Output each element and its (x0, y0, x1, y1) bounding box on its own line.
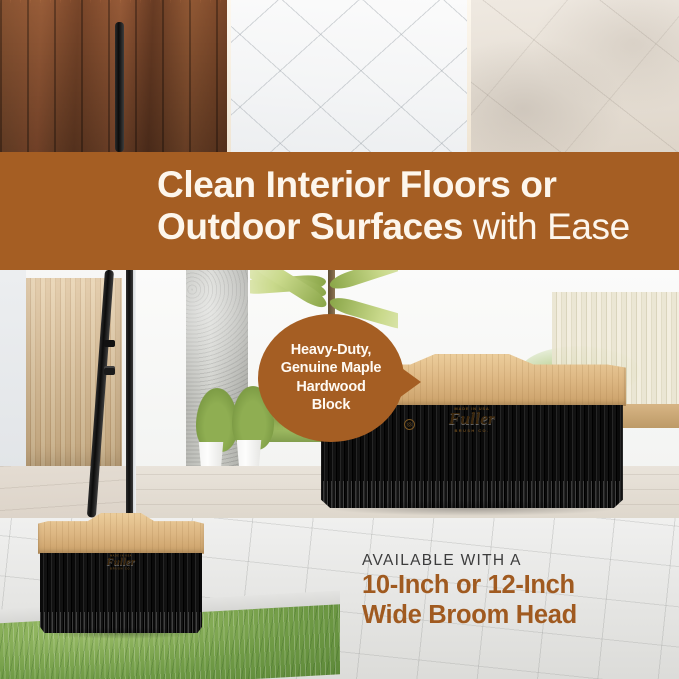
marble-floor-panel (471, 0, 679, 155)
headline: Clean Interior Floors or Outdoor Surface… (157, 166, 677, 246)
company-name-text: BRUSH CO. (70, 567, 173, 570)
badge-text: Heavy-Duty, Genuine Maple Hardwood Block (258, 314, 404, 442)
broom-handle-upper (115, 22, 124, 152)
broom-head-full: MADE IN USA Fuller BRUSH CO. (38, 513, 204, 633)
bristle-shadow (41, 627, 200, 639)
size-line-1: 10-Inch or 12-Inch (362, 570, 577, 600)
handle-ferrule (104, 340, 115, 347)
badge-line: Genuine Maple (281, 360, 382, 377)
badge-line: Hardwood (296, 379, 365, 396)
availability-eyebrow: AVAILABLE WITH A (362, 552, 577, 570)
handle-clip (104, 366, 115, 375)
headline-line-2-light: with Ease (473, 206, 630, 247)
badge-line: Heavy-Duty, (291, 342, 372, 359)
white-tile-floor-panel (231, 0, 467, 155)
floor-types-strip (0, 0, 679, 155)
hardwood-floor-panel (0, 0, 227, 155)
fuller-logo: MADE IN USA Fuller BRUSH CO. (70, 554, 173, 570)
maple-hardwood-block (38, 513, 204, 554)
headline-line-2-strong: Outdoor Surfaces (157, 206, 463, 247)
size-availability-copy: AVAILABLE WITH A 10-Inch or 12-Inch Wide… (362, 552, 577, 630)
interior-wall (0, 270, 26, 470)
headline-line-1: Clean Interior Floors or (157, 166, 677, 204)
badge-line: Block (312, 397, 351, 414)
headline-line-2: Outdoor Surfaces with Ease (157, 208, 677, 246)
brand-name-text: Fuller (70, 557, 173, 567)
product-marketing-image: Clean Interior Floors or Outdoor Surface… (0, 0, 679, 679)
feature-callout-badge: Heavy-Duty, Genuine Maple Hardwood Block (258, 314, 404, 442)
size-line-2: Wide Broom Head (362, 600, 577, 630)
palm-frond (328, 270, 398, 293)
logo-seal-icon (404, 419, 415, 430)
bristle-shadow (324, 500, 620, 515)
headline-banner: Clean Interior Floors or Outdoor Surface… (0, 152, 679, 270)
